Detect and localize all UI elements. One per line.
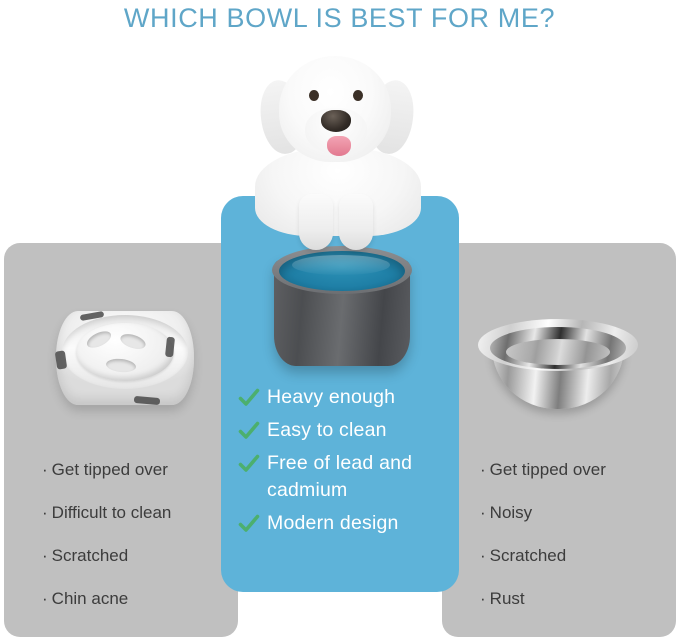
ceramic-bowl-highlight bbox=[292, 255, 390, 275]
infographic-canvas: WHICH BOWL IS BEST FOR ME? ·Get tipped o… bbox=[0, 0, 679, 643]
steel-bowl-interior-base bbox=[506, 339, 610, 365]
ceramic-bowl-illustration bbox=[266, 244, 418, 376]
plastic-bowl-illustration bbox=[50, 305, 200, 413]
steel-bowl-interior bbox=[490, 327, 626, 369]
plastic-bowl-slot bbox=[105, 357, 136, 373]
list-item: Modern design bbox=[238, 510, 452, 537]
plastic-bowl-slot bbox=[84, 328, 113, 351]
bullet-icon: · bbox=[42, 502, 48, 524]
list-item: ·Chin acne bbox=[42, 588, 232, 610]
plastic-bowl-grip bbox=[55, 350, 67, 369]
page-title: WHICH BOWL IS BEST FOR ME? bbox=[0, 3, 679, 34]
comparison-panel-right: ·Get tipped over ·Noisy ·Scratched ·Rust bbox=[442, 243, 676, 637]
puppy-photo bbox=[243, 52, 433, 242]
steel-bowl-body bbox=[492, 337, 624, 409]
list-item-label: Get tipped over bbox=[490, 460, 606, 479]
list-item-label: Get tipped over bbox=[52, 460, 168, 479]
plastic-bowl-grip bbox=[80, 311, 105, 321]
list-item: ·Noisy bbox=[480, 502, 670, 524]
list-item-label: Scratched bbox=[52, 546, 129, 565]
check-icon bbox=[238, 453, 260, 477]
dog-tongue bbox=[327, 136, 351, 156]
list-item: ·Rust bbox=[480, 588, 670, 610]
bullet-icon: · bbox=[42, 588, 48, 610]
comparison-panel-left: ·Get tipped over ·Difficult to clean ·Sc… bbox=[4, 243, 238, 637]
list-item-label: Chin acne bbox=[52, 589, 129, 608]
list-item-label: Heavy enough bbox=[267, 384, 395, 411]
bullet-icon: · bbox=[480, 545, 486, 567]
list-item-label: Noisy bbox=[490, 503, 533, 522]
cons-list-left: ·Get tipped over ·Difficult to clean ·Sc… bbox=[42, 459, 232, 631]
dog-paw-right bbox=[339, 194, 373, 250]
plastic-bowl-rim bbox=[62, 315, 188, 389]
list-item: ·Difficult to clean bbox=[42, 502, 232, 524]
list-item: ·Scratched bbox=[480, 545, 670, 567]
list-item-label: Rust bbox=[490, 589, 525, 608]
list-item-label: Easy to clean bbox=[267, 417, 387, 444]
list-item-label: Free of lead and cadmium bbox=[267, 450, 452, 504]
check-icon bbox=[238, 387, 260, 411]
dog-paw-left bbox=[299, 194, 333, 250]
dog-eye-left bbox=[309, 90, 319, 101]
plastic-bowl-grip bbox=[134, 396, 161, 405]
list-item: Easy to clean bbox=[238, 417, 452, 444]
list-item: ·Scratched bbox=[42, 545, 232, 567]
plastic-bowl-body bbox=[56, 311, 194, 405]
plastic-bowl-maze bbox=[76, 323, 174, 381]
dog-eye-right bbox=[353, 90, 363, 101]
plastic-bowl-slot bbox=[119, 331, 148, 351]
list-item: Heavy enough bbox=[238, 384, 452, 411]
benefits-list: Heavy enough Easy to clean Free of lead … bbox=[238, 384, 452, 543]
check-icon bbox=[238, 513, 260, 537]
bullet-icon: · bbox=[42, 459, 48, 481]
list-item: ·Get tipped over bbox=[42, 459, 232, 481]
bullet-icon: · bbox=[480, 502, 486, 524]
bullet-icon: · bbox=[480, 459, 486, 481]
list-item: ·Get tipped over bbox=[480, 459, 670, 481]
steel-bowl-rim bbox=[478, 319, 638, 371]
steel-bowl-illustration bbox=[478, 319, 638, 411]
bullet-icon: · bbox=[480, 588, 486, 610]
cons-list-right: ·Get tipped over ·Noisy ·Scratched ·Rust bbox=[480, 459, 670, 631]
bullet-icon: · bbox=[42, 545, 48, 567]
check-icon bbox=[238, 420, 260, 444]
dog-nose bbox=[321, 110, 351, 132]
list-item-label: Difficult to clean bbox=[52, 503, 172, 522]
featured-panel-center: Heavy enough Easy to clean Free of lead … bbox=[221, 196, 459, 592]
plastic-bowl-grip bbox=[165, 337, 175, 358]
list-item: Free of lead and cadmium bbox=[238, 450, 452, 504]
list-item-label: Modern design bbox=[267, 510, 399, 537]
list-item-label: Scratched bbox=[490, 546, 567, 565]
